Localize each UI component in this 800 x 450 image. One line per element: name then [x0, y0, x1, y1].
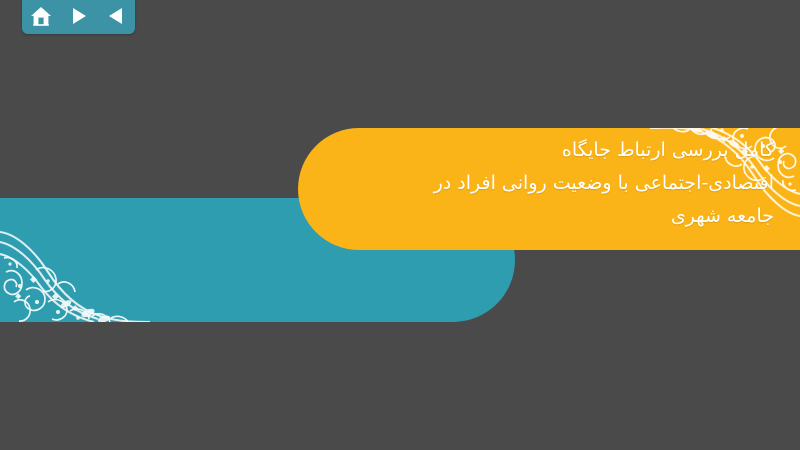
home-button[interactable] — [28, 3, 54, 29]
orange-title-banner: کامل بررسی ارتباط جایگاه اقتصادی-اجتماعی… — [298, 128, 800, 250]
presentation-title: کامل بررسی ارتباط جایگاه اقتصادی-اجتماعی… — [334, 134, 774, 233]
navigation-bar — [22, 0, 135, 34]
arabesque-corner-ornament — [0, 198, 150, 322]
right-triangle-icon — [71, 7, 87, 25]
forward-button[interactable] — [66, 3, 92, 29]
back-button[interactable] — [103, 3, 129, 29]
home-icon — [30, 6, 52, 26]
left-triangle-icon — [108, 7, 124, 25]
